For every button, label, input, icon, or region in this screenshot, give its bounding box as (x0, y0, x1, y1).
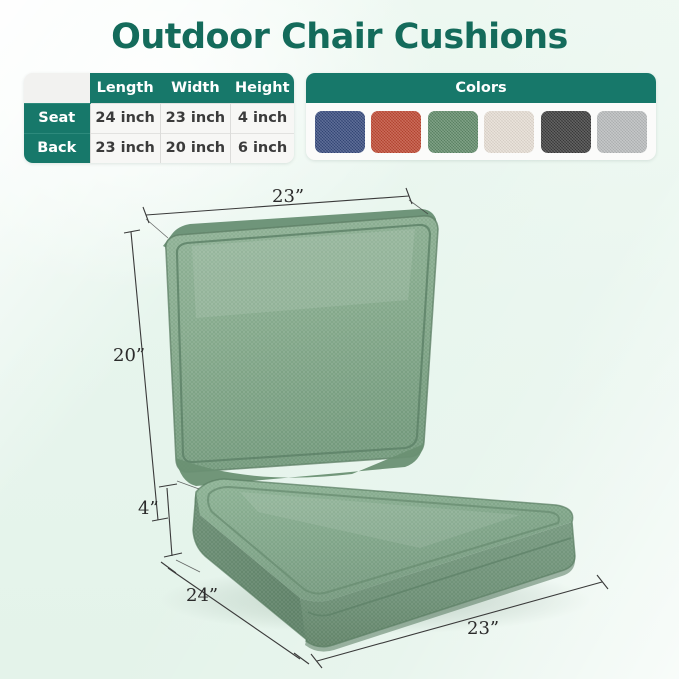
infographic-canvas: Outdoor Chair Cushions Length Width Heig… (0, 0, 679, 679)
specification-table: Length Width Height Seat 24 inch 23 inch… (24, 73, 294, 163)
row-label-seat: Seat (24, 103, 90, 133)
back-cushion (163, 209, 438, 486)
column-header-length: Length (90, 73, 160, 103)
cell-back-length: 23 inch (90, 133, 160, 163)
cell-seat-width: 23 inch (160, 103, 230, 133)
row-label-back: Back (24, 133, 90, 163)
dimension-label-back-height: 20” (113, 345, 145, 366)
dimension-label-seat-thickness: 4” (138, 498, 159, 519)
color-swatch-rust-red[interactable] (371, 111, 421, 153)
colors-panel-heading: Colors (306, 73, 656, 103)
color-swatch-charcoal[interactable] (541, 111, 591, 153)
cell-back-height: 6 inch (231, 133, 294, 163)
color-swatch-sage-green[interactable] (428, 111, 478, 153)
cell-back-width: 20 inch (160, 133, 230, 163)
dimension-label-back-width: 23” (272, 186, 304, 207)
table-corner-cell (24, 73, 90, 103)
color-swatch-list (306, 103, 656, 153)
cell-seat-height: 4 inch (231, 103, 294, 133)
color-swatch-navy-blue[interactable] (315, 111, 365, 153)
table-row-back: Back 23 inch 20 inch 6 inch (24, 133, 294, 163)
color-swatch-cream[interactable] (484, 111, 534, 153)
cell-seat-length: 24 inch (90, 103, 160, 133)
column-header-width: Width (160, 73, 230, 103)
table-row-seat: Seat 24 inch 23 inch 4 inch (24, 103, 294, 133)
color-swatch-light-gray[interactable] (597, 111, 647, 153)
dimension-label-seat-width: 23” (467, 618, 499, 639)
dimension-label-seat-depth: 24” (186, 585, 218, 606)
colors-panel: Colors (306, 73, 656, 160)
table-header-row: Length Width Height (24, 73, 294, 103)
column-header-height: Height (231, 73, 294, 103)
page-title: Outdoor Chair Cushions (0, 17, 679, 57)
